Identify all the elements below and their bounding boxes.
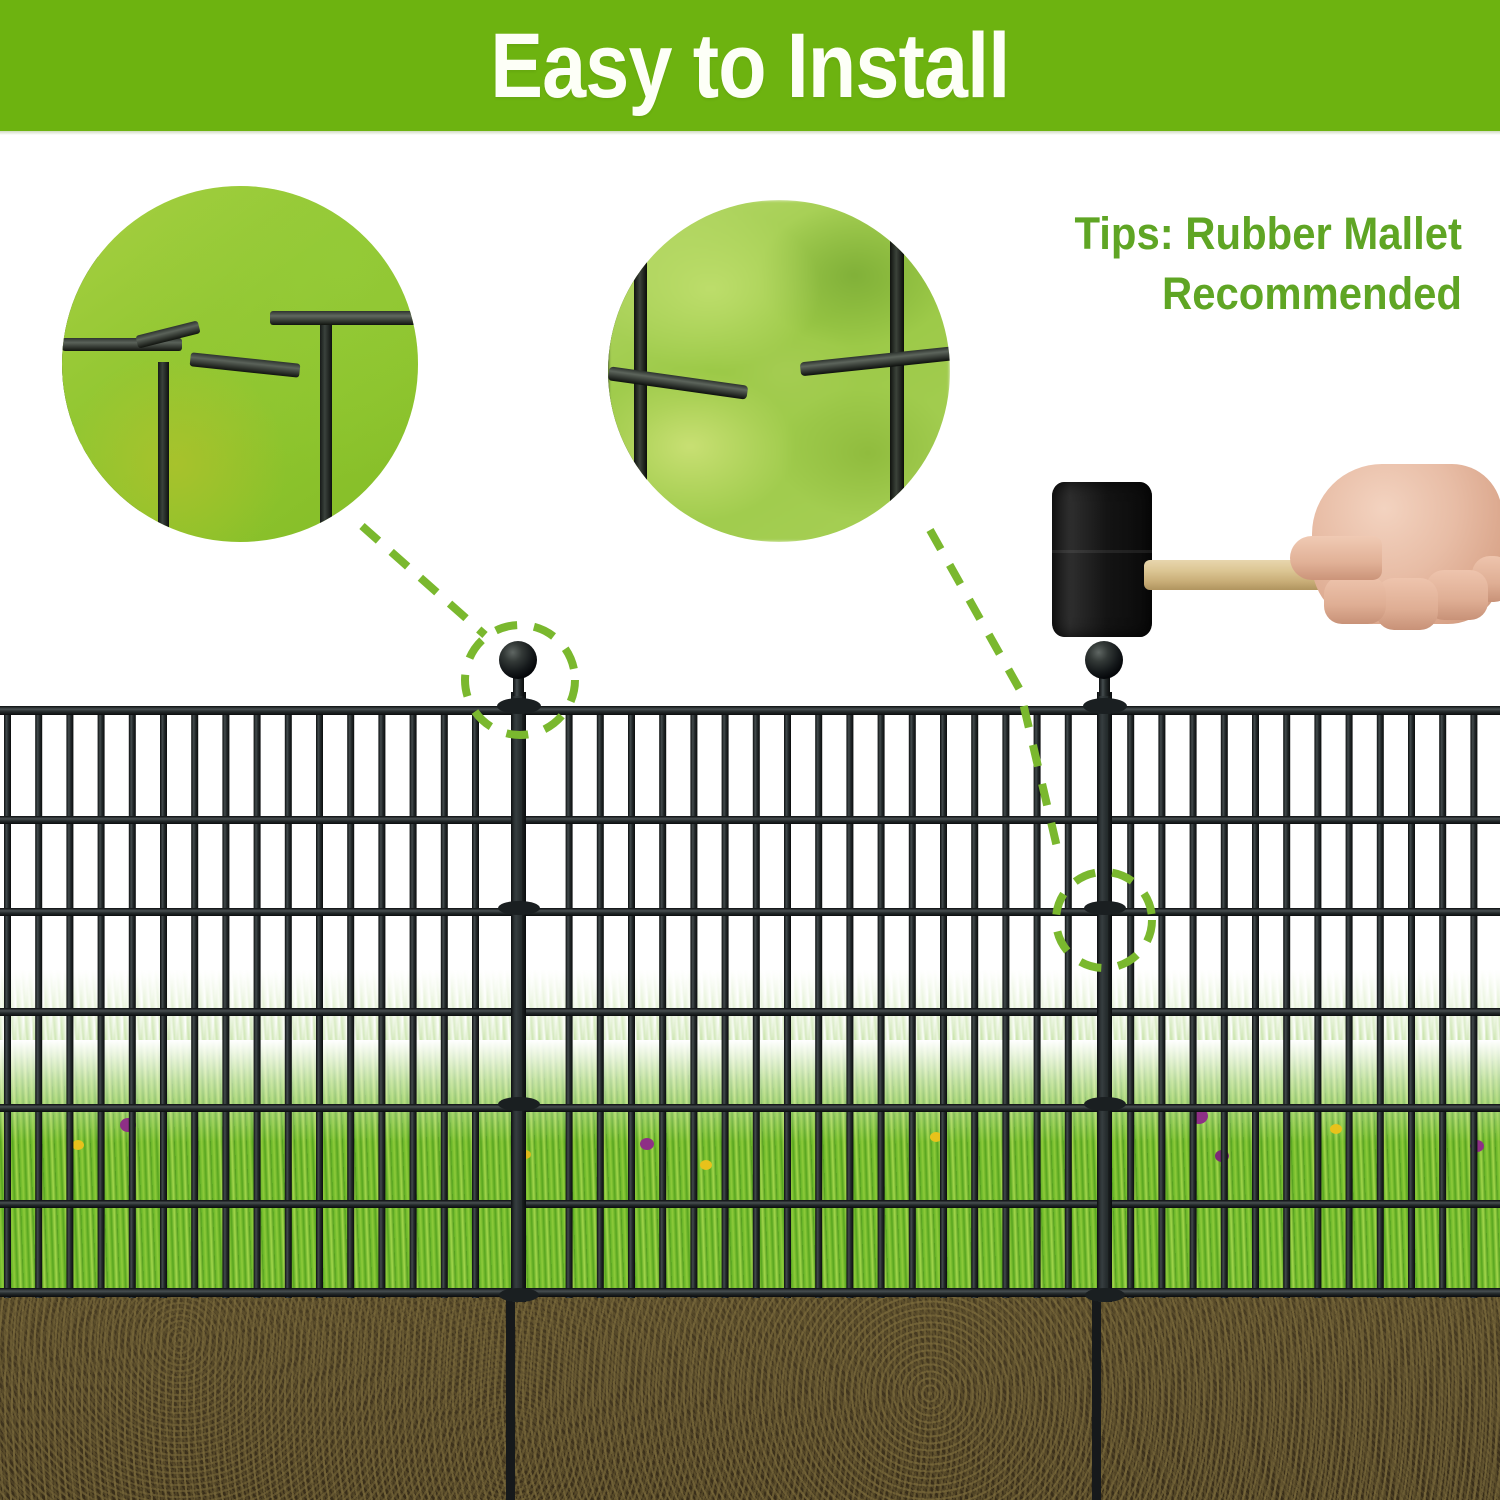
callout-post-cap [62,186,418,542]
fence-post [497,641,541,1500]
product-infographic: Easy to Install Tips: Rubber Mallet Reco… [0,0,1500,1500]
connector-line-post [362,526,485,635]
rubber-mallet-with-hand [1040,470,1500,655]
mesh-bar-right [320,314,332,542]
header-banner: Easy to Install [0,0,1500,131]
thumb [1290,536,1382,580]
hand [1290,464,1500,654]
tips-line-2: Recommended [1025,264,1462,324]
fence-vertical-bars [4,706,1477,1298]
mesh-bar-right [890,236,904,536]
tips-text: Tips: Rubber Mallet Recommended [1025,204,1462,324]
banner-shadow [0,131,1500,135]
tips-line-1: Tips: Rubber Mallet [1025,204,1462,264]
rail-right [270,311,418,325]
fence-post [1083,641,1127,1500]
page-title: Easy to Install [490,20,1009,112]
fence-scene [0,640,1500,1500]
mesh-bar-left [634,240,647,540]
callout-panel-hook [608,200,950,542]
mesh-bar-left [158,362,169,542]
fence-panels [0,640,1500,1500]
mallet-head [1052,482,1152,637]
finger-index [1324,576,1386,624]
